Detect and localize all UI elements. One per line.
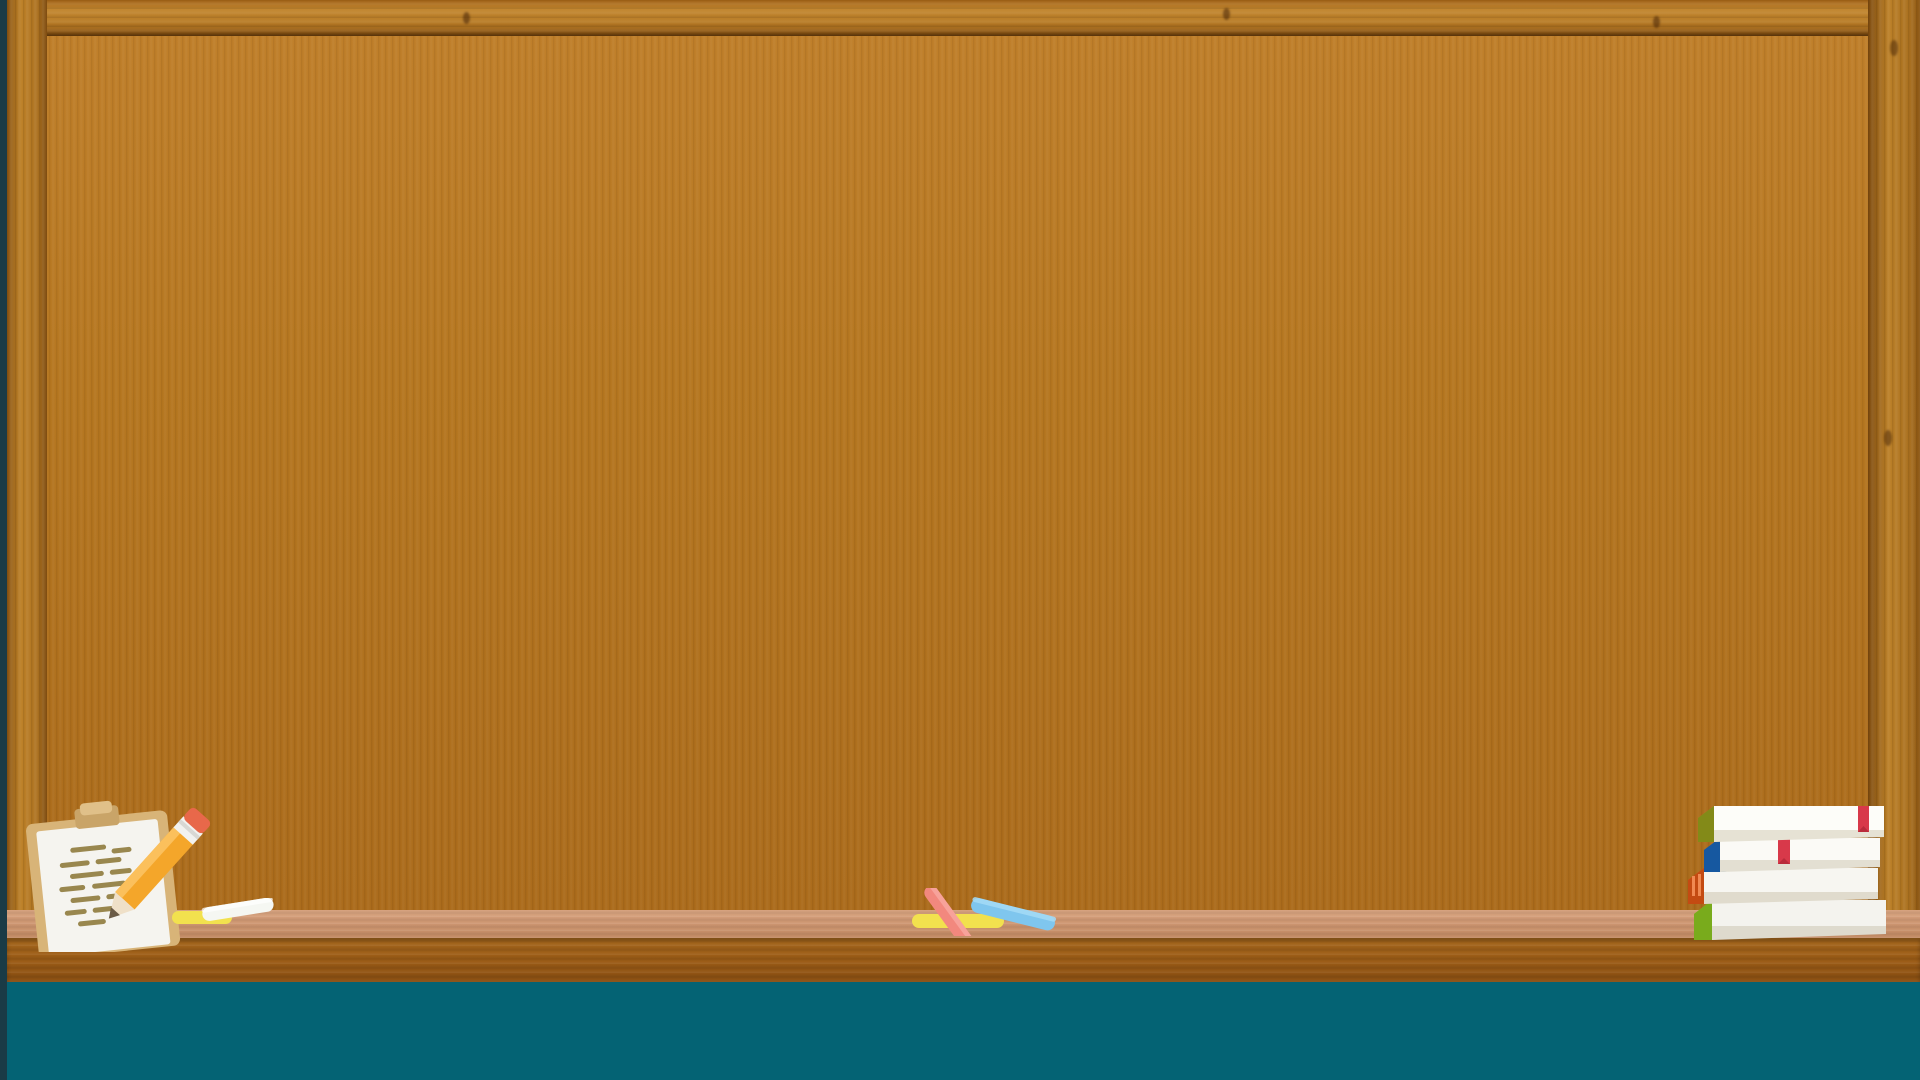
ledge-front-face — [7, 938, 1920, 982]
left-edge-strip — [0, 0, 7, 1080]
chalk-sticks-icon — [172, 898, 282, 928]
book-stack-icon — [1686, 772, 1886, 942]
chalk-sticks-icon — [898, 888, 1058, 936]
slide-stage: 劳动教育数字资源助力乡村振兴项目 织围巾，知感恩 学 段：小学低学段 任务群：传… — [0, 0, 1920, 1080]
frame-top-rail — [43, 0, 1893, 36]
bottom-teal-band — [0, 982, 1920, 1080]
blackboard-wood-frame — [7, 0, 1920, 982]
